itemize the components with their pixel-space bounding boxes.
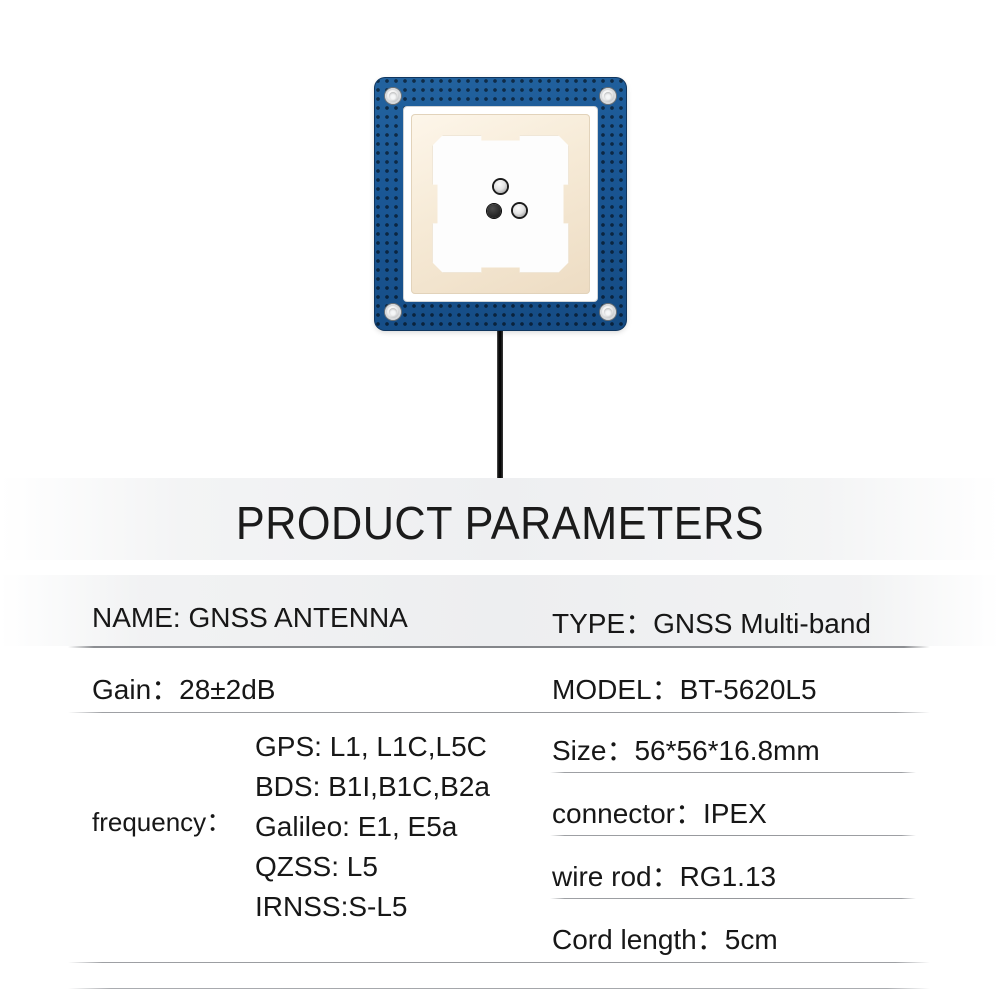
frequency-line: BDS: B1I,B1C,B2a <box>255 767 490 807</box>
spec-gain-value: Gain：28±2dB <box>92 668 275 708</box>
table-divider-right-3 <box>550 898 916 899</box>
frequency-line: QZSS: L5 <box>255 847 490 887</box>
frequency-line: Galileo: E1, E5a <box>255 807 490 847</box>
spec-size-value: Size：56*56*16.8mm <box>552 729 820 769</box>
table-divider-full-1 <box>68 646 930 648</box>
spec-frequency-label: frequency： <box>92 802 232 839</box>
antenna-pcb-icon <box>375 78 626 330</box>
product-photo <box>0 0 1000 490</box>
mounting-hole-icon-top-left <box>385 88 401 104</box>
solder-pad-icon-ground <box>513 204 526 217</box>
frequency-line: IRNSS:S-L5 <box>255 887 490 927</box>
spec-connector-value: connector：IPEX <box>552 792 767 832</box>
mounting-hole-icon-bottom-left <box>385 304 401 320</box>
page-title: PRODUCT PARAMETERS <box>30 496 970 550</box>
spec-model-value: MODEL：BT-5620L5 <box>552 668 817 708</box>
spec-type-value: TYPE：GNSS Multi-band <box>552 602 871 642</box>
product-spec-sheet: PRODUCT PARAMETERS NAME: GNSS ANTENNA TY… <box>0 0 1000 1000</box>
ceramic-patch-surface <box>432 135 569 273</box>
spec-wire-rod-value: wire rod：RG1.13 <box>552 855 776 895</box>
mounting-hole-icon-bottom-right <box>600 304 616 320</box>
mounting-hole-icon-top-right <box>600 88 616 104</box>
specification-table: NAME: GNSS ANTENNA TYPE：GNSS Multi-band … <box>0 575 1000 975</box>
spec-frequency-values: GPS: L1, L1C,L5C BDS: B1I,B1C,B2a Galile… <box>255 727 490 927</box>
coax-cable-icon <box>497 322 503 480</box>
table-divider-bottom <box>68 988 930 989</box>
solder-pad-icon-feed <box>487 204 501 218</box>
table-divider-full-2 <box>68 712 930 713</box>
frequency-line: GPS: L1, L1C,L5C <box>255 727 490 767</box>
table-divider-full-3 <box>68 962 930 963</box>
solder-pad-icon-top <box>494 180 507 193</box>
table-divider-right-2 <box>550 835 916 836</box>
table-divider-right-1 <box>550 772 916 773</box>
spec-cord-length-value: Cord length：5cm <box>552 918 778 958</box>
spec-name-value: NAME: GNSS ANTENNA <box>92 602 408 634</box>
